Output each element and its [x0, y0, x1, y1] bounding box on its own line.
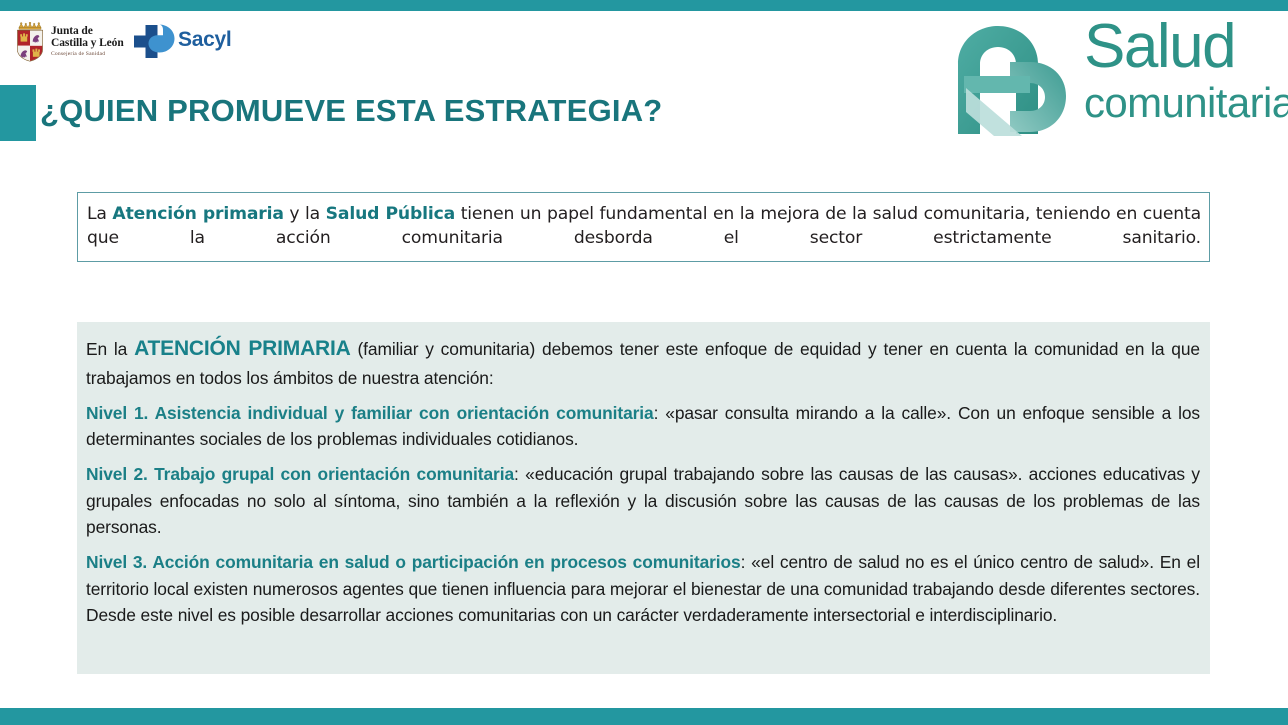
levels-lead-strong-atencion-primaria: ATENCIÓN PRIMARIA	[134, 337, 351, 360]
junta-castilla-y-leon-logo: Junta de Castilla y León Consejería de S…	[14, 20, 134, 64]
junta-logo-subtitle: Consejería de Sanidad	[51, 52, 124, 58]
nivel-3-paragraph: Nivel 3. Acción comunitaria en salud o p…	[86, 549, 1200, 629]
salud-logo-line1: Salud	[1084, 16, 1288, 78]
intro-highlight-atencion-primaria: Atención primaria	[112, 204, 283, 224]
salud-comunitaria-wordmark: Salud comunitaria	[1084, 16, 1288, 126]
nivel-3-heading: Nivel 3. Acción comunitaria en salud o p…	[86, 552, 741, 572]
top-accent-bar	[0, 0, 1288, 11]
sacyl-logo: Sacyl	[133, 18, 243, 64]
nivel-2-paragraph: Nivel 2. Trabajo grupal con orientación …	[86, 461, 1200, 541]
intro-seg-0: La	[87, 204, 112, 224]
nivel-1-heading: Nivel 1. Asistencia individual y familia…	[86, 403, 654, 423]
castilla-y-leon-coat-of-arms-icon	[14, 22, 46, 62]
bottom-accent-bar	[0, 708, 1288, 725]
junta-logo-wordmark: Junta de Castilla y León Consejería de S…	[51, 26, 124, 57]
nivel-2-heading: Nivel 2. Trabajo grupal con orientación …	[86, 464, 514, 484]
levels-lead-pre: En la	[86, 339, 134, 359]
intro-highlight-salud-publica: Salud Pública	[326, 204, 455, 224]
slide-title-block: ¿QUIEN PROMUEVE ESTA ESTRATEGIA?	[0, 85, 700, 141]
levels-panel: En la ATENCIÓN PRIMARIA (familiar y comu…	[77, 322, 1210, 674]
sacyl-cross-icon	[133, 23, 177, 61]
title-accent-square	[0, 85, 36, 141]
intro-statement-text: La Atención primaria y la Salud Pública …	[78, 193, 1209, 251]
sacyl-wordmark: Sacyl	[178, 28, 231, 52]
intro-seg-2: y la	[284, 204, 326, 224]
junta-logo-line2: Castilla y León	[51, 38, 124, 50]
salud-comunitaria-logo: Salud comunitaria	[944, 14, 1274, 144]
levels-lead-paragraph: En la ATENCIÓN PRIMARIA (familiar y comu…	[86, 333, 1200, 392]
slide-canvas: Junta de Castilla y León Consejería de S…	[0, 0, 1288, 725]
salud-comunitaria-monogram-icon	[948, 18, 1076, 140]
intro-statement-box: La Atención primaria y la Salud Pública …	[77, 192, 1210, 262]
nivel-1-paragraph: Nivel 1. Asistencia individual y familia…	[86, 400, 1200, 453]
page-title: ¿QUIEN PROMUEVE ESTA ESTRATEGIA?	[40, 93, 662, 129]
salud-logo-line2: comunitaria	[1084, 80, 1288, 126]
